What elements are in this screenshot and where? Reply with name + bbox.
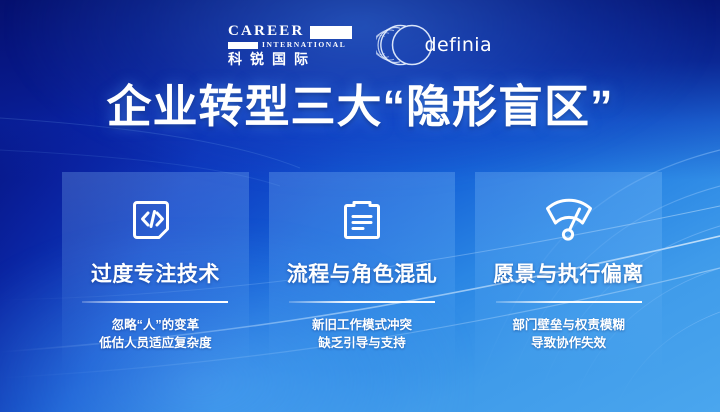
card-description: 新旧工作模式冲突 缺乏引导与支持 (312, 316, 412, 352)
card-description: 忽略“人”的变革 低估人员适应复杂度 (99, 316, 212, 352)
career-logo-block (310, 26, 352, 39)
clipboard-lines-icon (334, 192, 390, 248)
career-chinese-name: 科锐国际 (228, 52, 316, 66)
card-over-focus-technology[interactable]: 过度专注技术 忽略“人”的变革 低估人员适应复杂度 (62, 172, 249, 372)
card-vision-execution-gap[interactable]: 愿景与执行偏离 部门壁垒与权责模糊 导致协作失效 (475, 172, 662, 372)
card-description: 部门壁垒与权责模糊 导致协作失效 (512, 316, 625, 352)
card-description-line: 缺乏引导与支持 (312, 334, 412, 352)
card-description-line: 低估人员适应复杂度 (99, 334, 212, 352)
code-document-icon (127, 192, 183, 248)
career-wordmark: CAREER (228, 24, 305, 39)
logo-definia: definia (376, 22, 492, 68)
card-divider (496, 301, 642, 303)
card-description-line: 导致协作失效 (512, 334, 625, 352)
card-description-line: 部门壁垒与权责模糊 (512, 316, 625, 334)
logo-row: CAREER INTERNATIONAL 科锐国际 defini (0, 22, 720, 68)
gauge-needle-icon (541, 192, 597, 248)
page-title: 企业转型三大“隐形盲区” (106, 84, 613, 129)
card-process-role-confusion[interactable]: 流程与角色混乱 新旧工作模式冲突 缺乏引导与支持 (269, 172, 456, 372)
card-description-line: 忽略“人”的变革 (99, 316, 212, 334)
card-title: 愿景与执行偏离 (493, 264, 644, 285)
title-block: 企业转型三大“隐形盲区” (0, 84, 720, 129)
card-title: 过度专注技术 (91, 264, 220, 285)
card-description-line: 新旧工作模式冲突 (312, 316, 412, 334)
card-title: 流程与角色混乱 (287, 264, 438, 285)
poster-canvas: CAREER INTERNATIONAL 科锐国际 defini (0, 0, 720, 412)
card-divider (289, 301, 435, 303)
logo-career-international: CAREER INTERNATIONAL 科锐国际 (228, 24, 352, 66)
career-logo-bar (228, 42, 258, 49)
card-row: 过度专注技术 忽略“人”的变革 低估人员适应复杂度 流程与角色混乱 新旧工作模式… (62, 172, 662, 372)
card-divider (82, 301, 228, 303)
definia-wordmark: definia (425, 34, 492, 56)
career-sub-wordmark: INTERNATIONAL (262, 41, 346, 49)
